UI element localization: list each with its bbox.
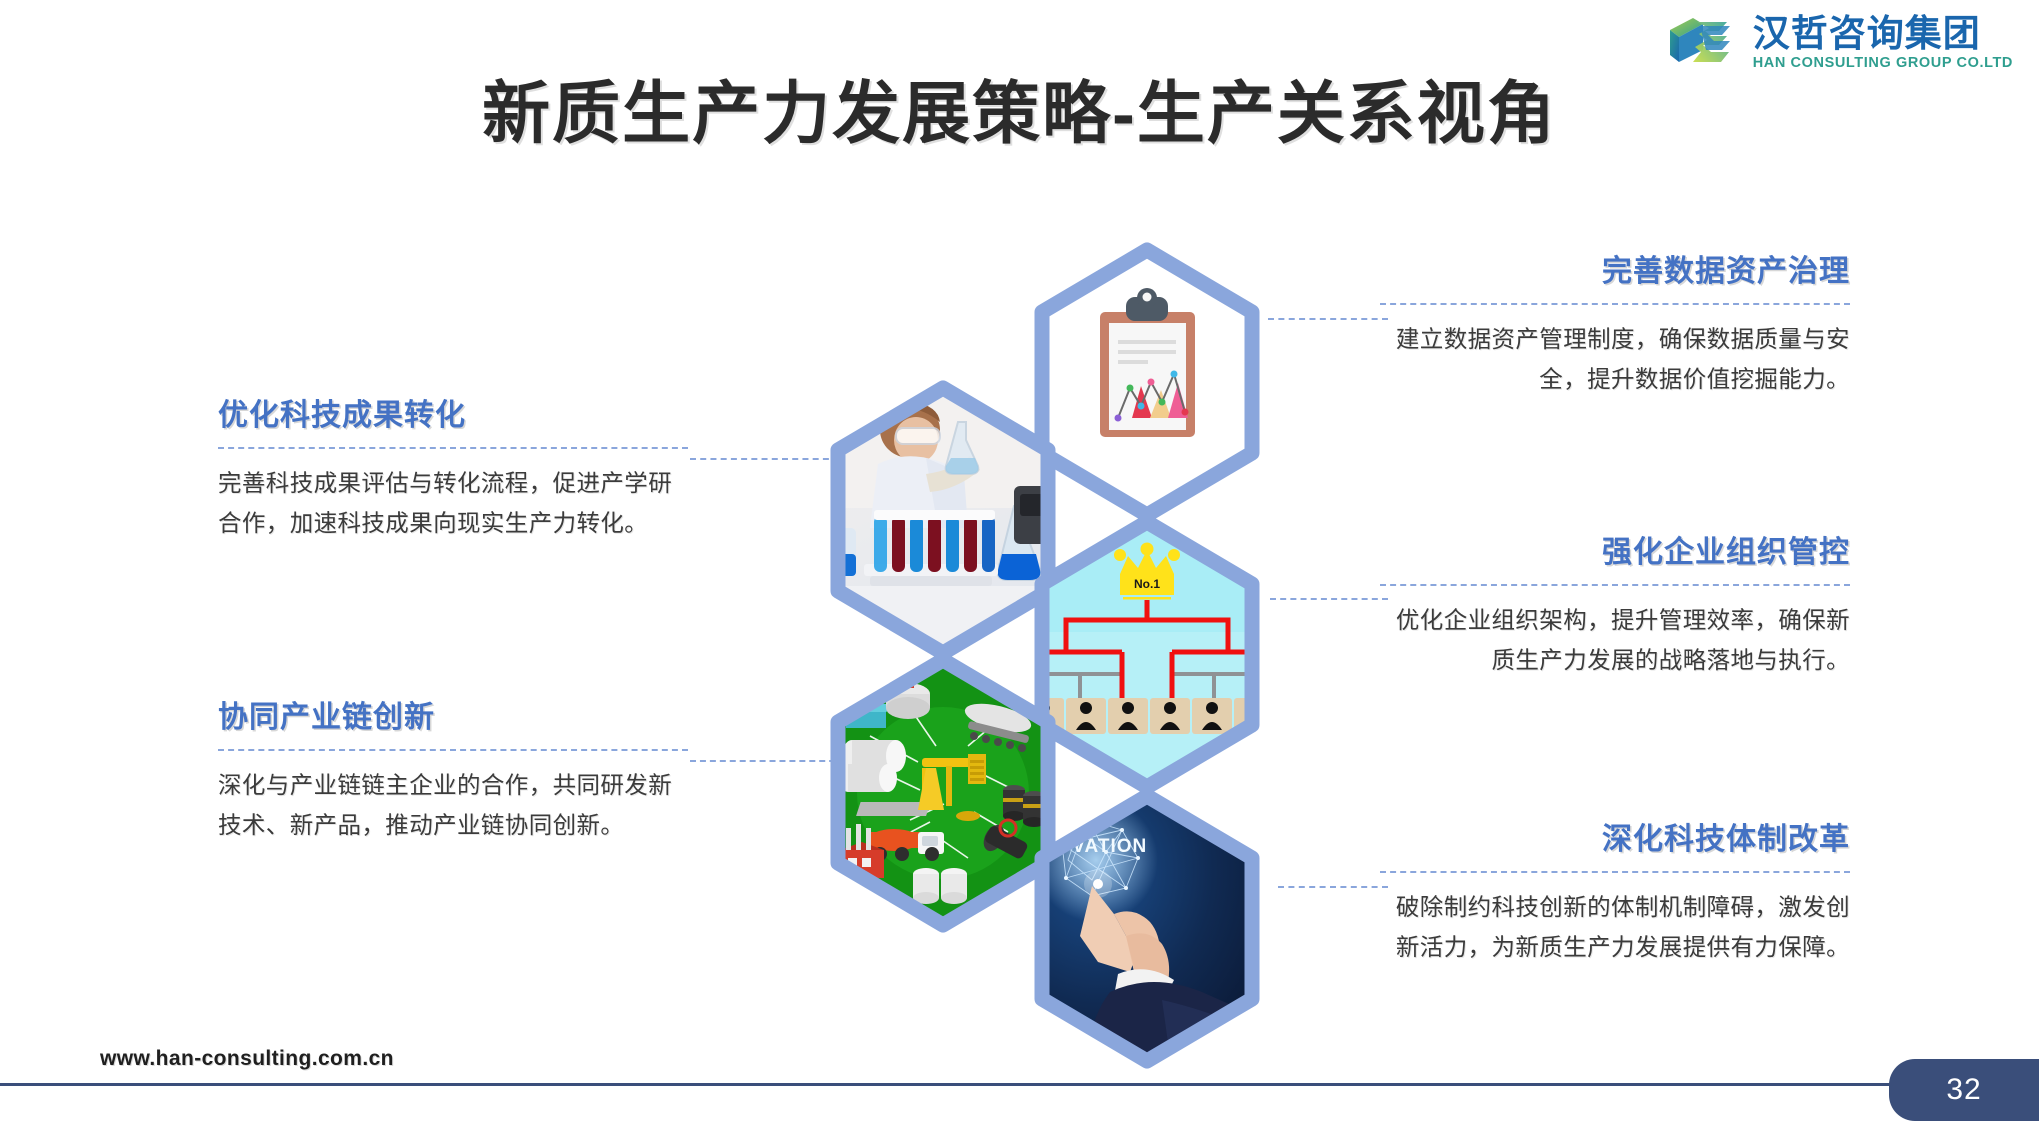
slide-canvas: 汉哲咨询集团 HAN CONSULTING GROUP CO.LTD 新质生产力…: [0, 0, 2039, 1129]
logo-name-cn: 汉哲咨询集团: [1753, 15, 1981, 54]
block-title: 完善数据资产治理: [1380, 254, 1850, 290]
leader-line-right-3: [1278, 886, 1388, 888]
leader-line-right-1: [1268, 318, 1388, 320]
content-block-optimize-tech-transfer: 优化科技成果转化 完善科技成果评估与转化流程，促进产学研合作，加速科技成果向现实…: [218, 398, 688, 544]
crown-badge-icon: No.1: [1114, 543, 1180, 600]
block-divider: [218, 447, 688, 449]
footer-website-url[interactable]: www.han-consulting.com.cn: [100, 1047, 394, 1071]
block-divider: [1380, 303, 1850, 305]
block-body: 深化与产业链链主企业的合作，共同研发新技术、新产品，推动产业链协同创新。: [218, 765, 688, 846]
block-title: 优化科技成果转化: [218, 398, 688, 434]
page-title: 新质生产力发展策略-生产关系视角: [0, 58, 2039, 157]
block-body: 优化企业组织架构，提升管理效率，确保新质生产力发展的战略落地与执行。: [1380, 600, 1850, 681]
block-title: 强化企业组织管控: [1380, 535, 1850, 571]
block-divider: [1380, 871, 1850, 873]
block-title: 深化科技体制改革: [1380, 822, 1850, 858]
block-divider: [218, 749, 688, 751]
content-block-data-asset-governance: 完善数据资产治理 建立数据资产管理制度，确保数据质量与安全，提升数据价值挖掘能力…: [1380, 254, 1850, 400]
content-block-industry-chain-innovation: 协同产业链创新 深化与产业链链主企业的合作，共同研发新技术、新产品，推动产业链协…: [218, 700, 688, 846]
block-body: 建立数据资产管理制度，确保数据质量与安全，提升数据价值挖掘能力。: [1380, 319, 1850, 400]
crown-rank-label: No.1: [1134, 577, 1160, 591]
content-block-org-management: 强化企业组织管控 优化企业组织架构，提升管理效率，确保新质生产力发展的战略落地与…: [1380, 535, 1850, 681]
page-number-badge: 32: [1889, 1059, 2039, 1121]
leader-line-right-2: [1270, 598, 1388, 600]
block-title: 协同产业链创新: [218, 700, 688, 736]
innovation-touch-icon: INNOVATION: [1022, 786, 1272, 1071]
block-divider: [1380, 584, 1850, 586]
content-block-tech-system-reform: 深化科技体制改革 破除制约科技创新的体制机制障碍，激发创新活力，为新质生产力发展…: [1380, 822, 1850, 968]
footer-divider: [0, 1083, 1955, 1086]
hexagon-innovation: INNOVATION: [1022, 786, 1272, 1071]
block-body: 完善科技成果评估与转化流程，促进产学研合作，加速科技成果向现实生产力转化。: [218, 463, 688, 544]
block-body: 破除制约科技创新的体制机制障碍，激发创新活力，为新质生产力发展提供有力保障。: [1380, 887, 1850, 968]
